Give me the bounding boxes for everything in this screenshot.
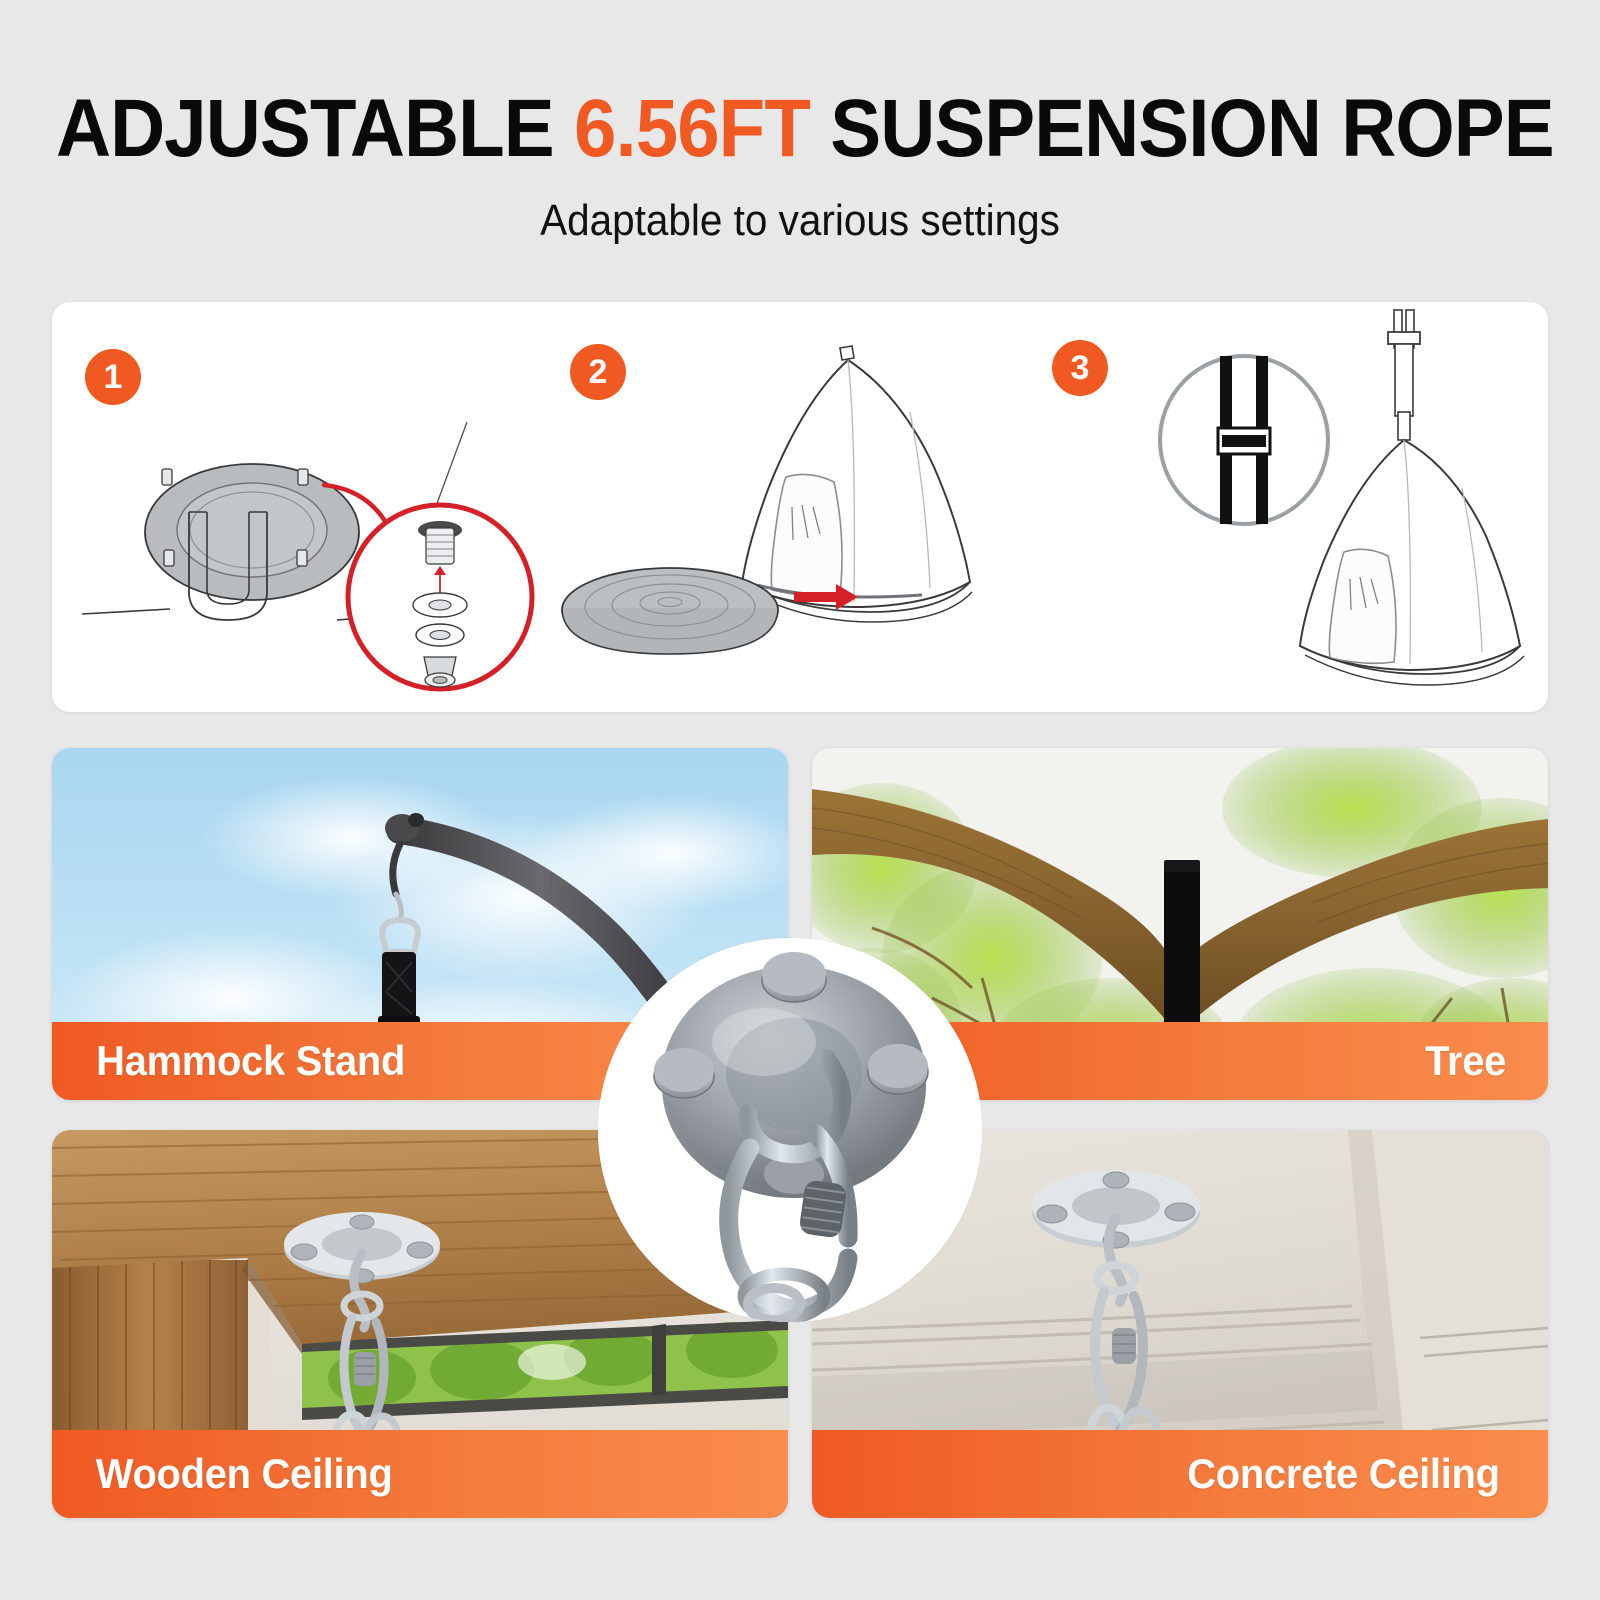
mount-plate-with-d-ring-illustration <box>52 302 552 712</box>
diagram-step-1: 1 <box>52 302 552 712</box>
diagram-step-2: 2 <box>552 302 1032 712</box>
card-label-wooden-ceiling: Wooden Ceiling <box>96 1450 393 1498</box>
label-bar-concrete-ceiling: Concrete Ceiling <box>812 1430 1548 1518</box>
page-title: ADJUSTABLE 6.56FT SUSPENSION ROPE <box>56 88 1544 170</box>
instruction-diagram-panel: 1 <box>52 302 1548 712</box>
hardware-closeup-illustration <box>598 938 982 1322</box>
insert-cushion-illustration <box>552 302 1032 712</box>
diagram-step-3: 3 <box>1032 302 1548 712</box>
card-label-concrete-ceiling: Concrete Ceiling <box>1187 1450 1499 1498</box>
card-label-hammock-stand: Hammock Stand <box>96 1037 405 1085</box>
infographic-page: ADJUSTABLE 6.56FT SUSPENSION ROPE Adapta… <box>0 0 1600 1600</box>
hardware-closeup-inset <box>598 938 982 1322</box>
title-accent-measurement: 6.56FT <box>574 83 810 174</box>
title-part-1: ADJUSTABLE <box>56 83 574 174</box>
label-bar-wooden-ceiling: Wooden Ceiling <box>52 1430 788 1518</box>
page-subtitle: Adaptable to various settings <box>64 196 1536 246</box>
card-label-tree: Tree <box>1425 1037 1506 1085</box>
title-part-2: SUSPENSION ROPE <box>810 83 1554 174</box>
hang-tent-with-strap-illustration <box>1032 302 1548 712</box>
header: ADJUSTABLE 6.56FT SUSPENSION ROPE Adapta… <box>0 0 1600 246</box>
